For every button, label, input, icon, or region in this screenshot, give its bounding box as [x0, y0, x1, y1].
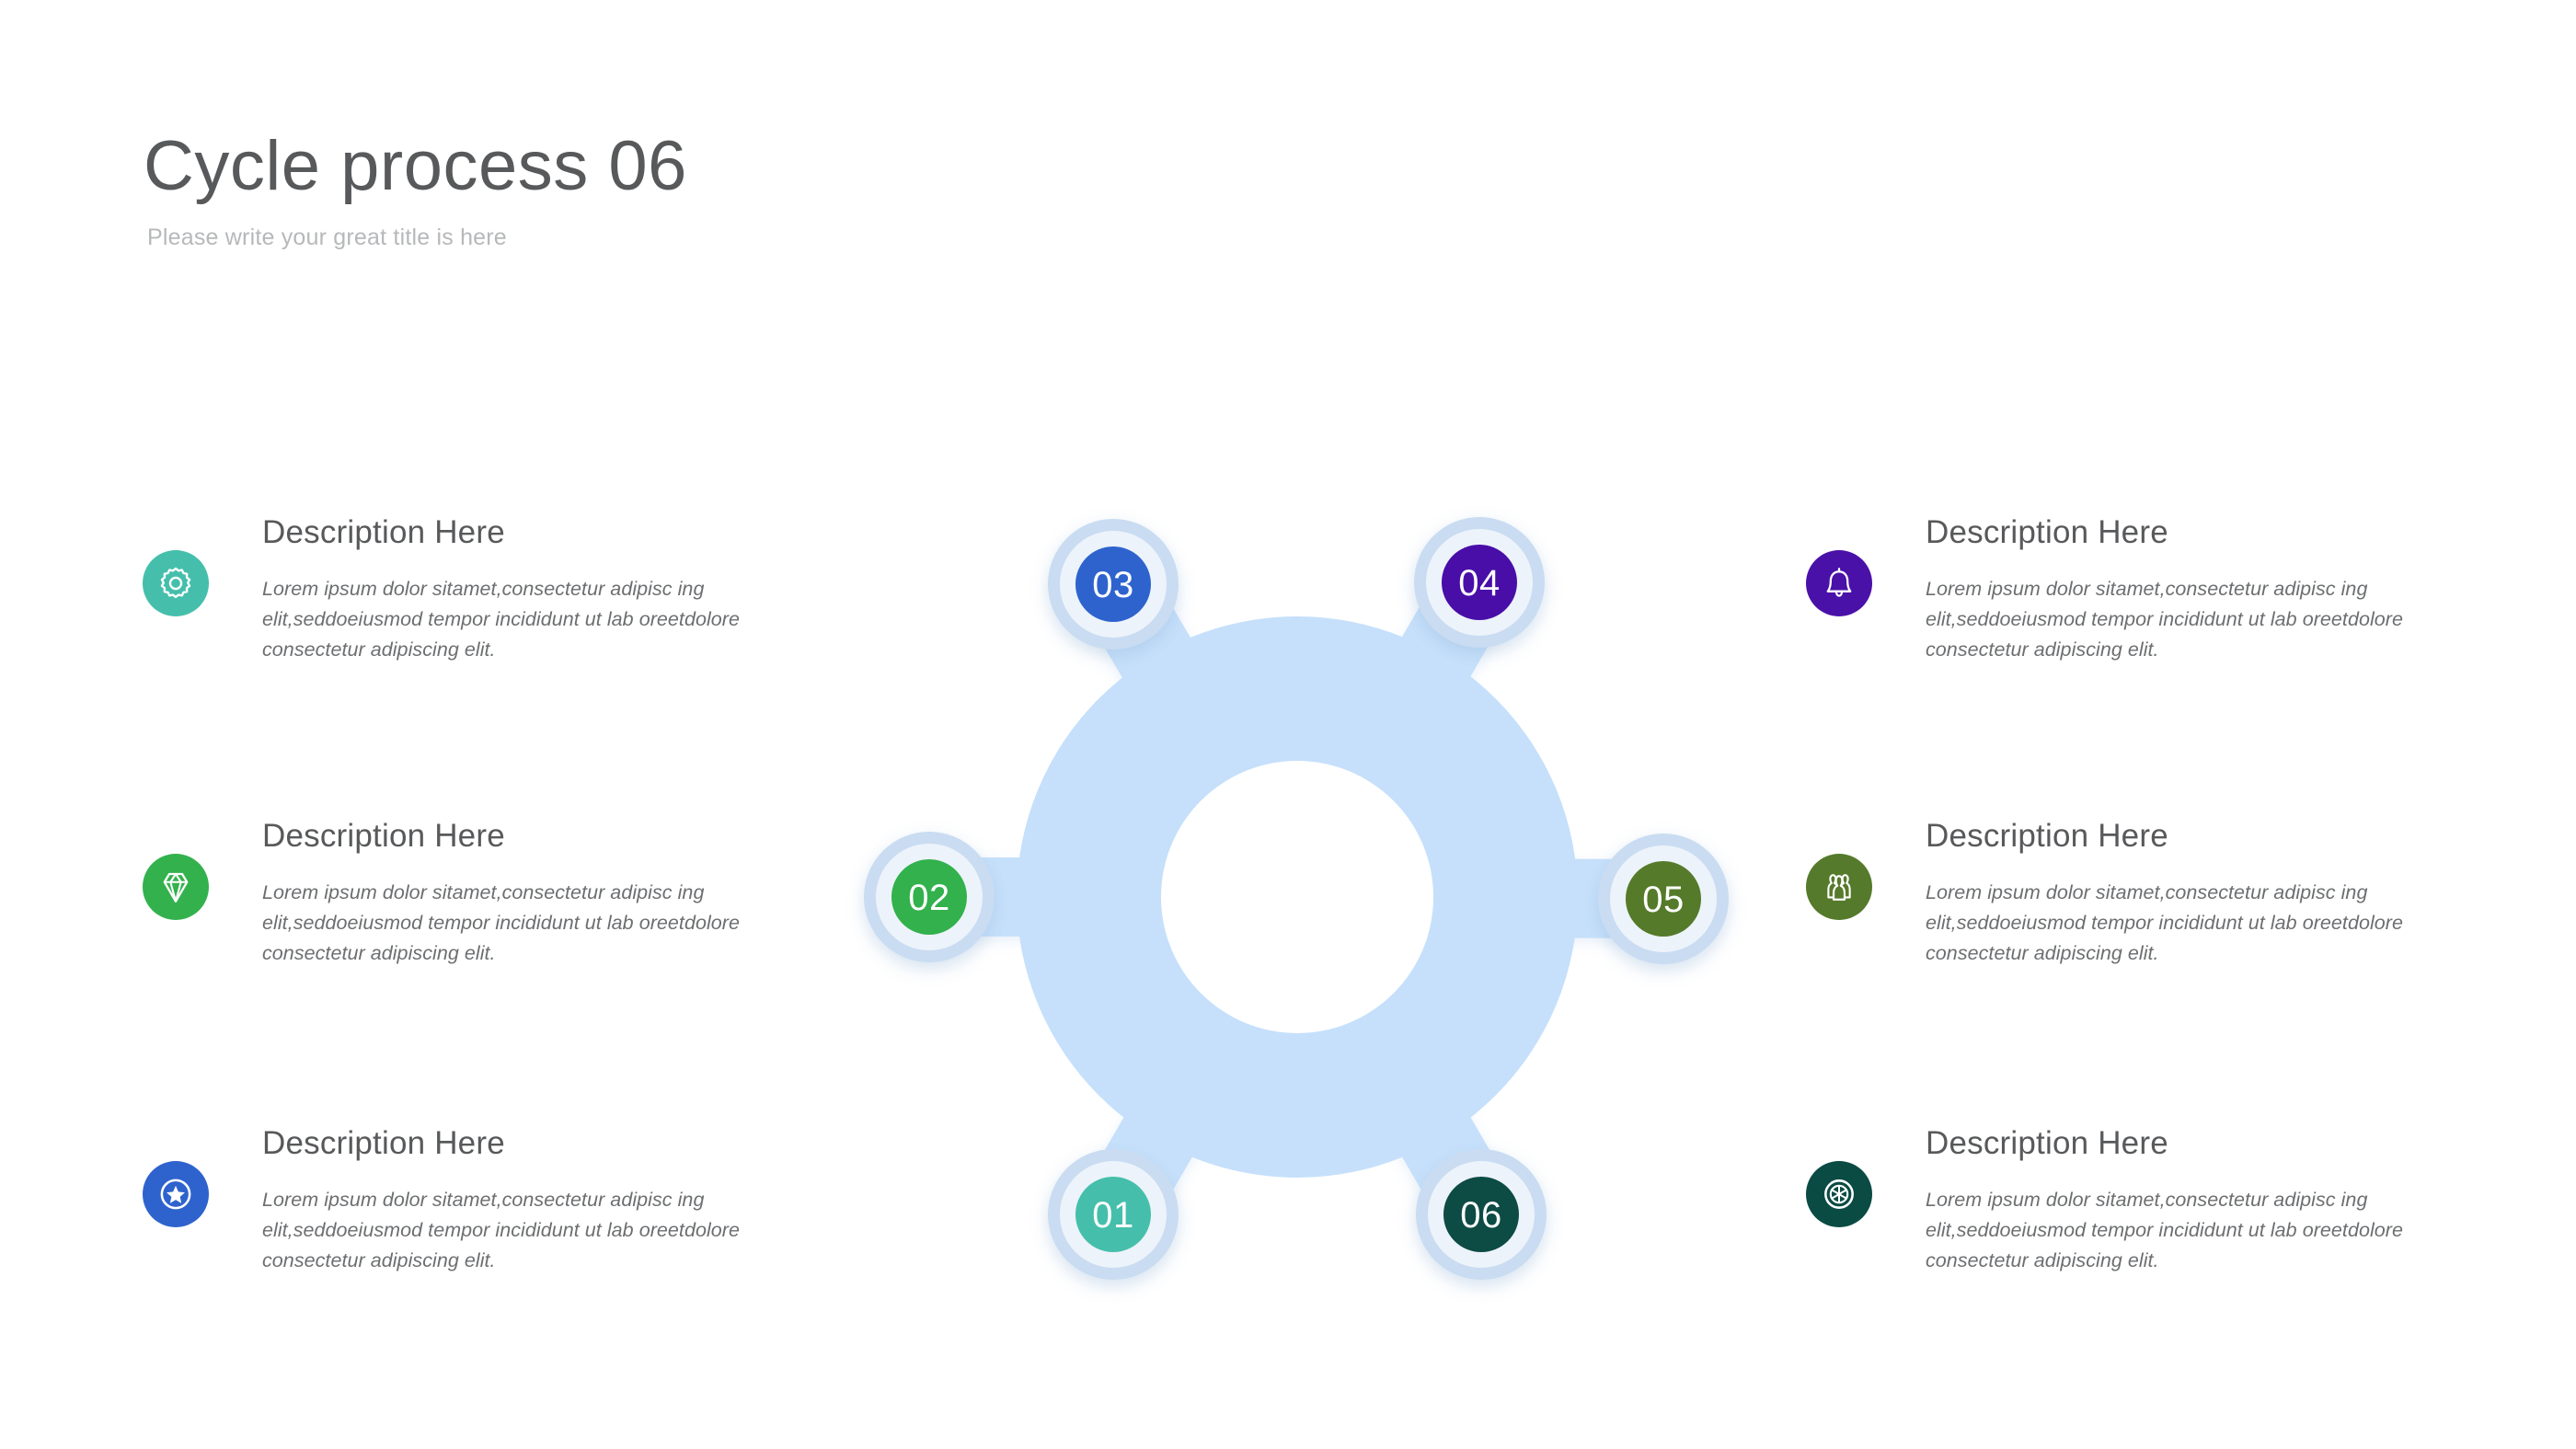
wheel-svg: 03 04 02 05 [810, 414, 1785, 1389]
description-block-06[interactable]: Description Here Lorem ipsum dolor sitam… [1806, 1126, 2468, 1276]
node-number-02: 02 [908, 878, 950, 918]
people-group-icon-badge[interactable] [1806, 854, 1872, 920]
bell-icon [1820, 564, 1858, 603]
description-block-04[interactable]: Description Here Lorem ipsum dolor sitam… [1806, 515, 2468, 665]
node-number-05: 05 [1642, 880, 1685, 920]
description-heading: Description Here [1926, 1126, 2427, 1162]
description-block-05[interactable]: Description Here Lorem ipsum dolor sitam… [1806, 819, 2468, 969]
header: Cycle process 06 Please write your great… [144, 129, 1248, 251]
star-circle-icon-badge[interactable] [143, 1161, 209, 1227]
gear-icon [155, 563, 196, 604]
description-text-04: Description Here Lorem ipsum dolor sitam… [1926, 515, 2427, 665]
description-text-03: Description Here Lorem ipsum dolor sitam… [262, 1126, 764, 1276]
cycle-wheel-diagram: 03 04 02 05 [810, 414, 1785, 1389]
description-body: Lorem ipsum dolor sitamet,consectetur ad… [1926, 574, 2427, 666]
description-body: Lorem ipsum dolor sitamet,consectetur ad… [262, 878, 764, 970]
page-subtitle: Please write your great title is here [147, 224, 1248, 251]
people-group-icon [1819, 867, 1859, 907]
description-text-05: Description Here Lorem ipsum dolor sitam… [1926, 819, 2427, 969]
gear-icon-badge[interactable] [143, 550, 209, 616]
wheel-icon-badge[interactable] [1806, 1161, 1872, 1227]
bell-icon-badge[interactable] [1806, 550, 1872, 616]
wheel-node-06[interactable]: 06 [1416, 1149, 1547, 1280]
wheel-node-02[interactable]: 02 [864, 832, 995, 962]
description-heading: Description Here [262, 819, 764, 855]
wheel-node-01[interactable]: 01 [1048, 1149, 1179, 1280]
wheel-node-03[interactable]: 03 [1048, 519, 1179, 650]
description-body: Lorem ipsum dolor sitamet,consectetur ad… [262, 1185, 764, 1277]
wheel-node-05[interactable]: 05 [1598, 834, 1729, 964]
description-heading: Description Here [262, 515, 764, 551]
description-text-02: Description Here Lorem ipsum dolor sitam… [262, 819, 764, 969]
node-number-04: 04 [1458, 563, 1501, 604]
wheel-hub [1017, 616, 1578, 1178]
description-heading: Description Here [1926, 819, 2427, 855]
star-circle-icon [155, 1174, 196, 1214]
description-block-02[interactable]: Description Here Lorem ipsum dolor sitam… [143, 819, 805, 969]
diamond-icon-badge[interactable] [143, 854, 209, 920]
wheel-node-04[interactable]: 04 [1414, 517, 1545, 648]
description-text-01: Description Here Lorem ipsum dolor sitam… [262, 515, 764, 665]
node-number-03: 03 [1092, 565, 1134, 605]
node-number-01: 01 [1092, 1195, 1134, 1236]
description-text-06: Description Here Lorem ipsum dolor sitam… [1926, 1126, 2427, 1276]
description-block-03[interactable]: Description Here Lorem ipsum dolor sitam… [143, 1126, 805, 1276]
description-block-01[interactable]: Description Here Lorem ipsum dolor sitam… [143, 515, 805, 665]
page-title: Cycle process 06 [144, 129, 1248, 204]
description-body: Lorem ipsum dolor sitamet,consectetur ad… [1926, 878, 2427, 970]
description-heading: Description Here [262, 1126, 764, 1162]
diamond-icon [156, 868, 195, 906]
wheel-icon [1819, 1174, 1859, 1214]
description-body: Lorem ipsum dolor sitamet,consectetur ad… [262, 574, 764, 666]
description-heading: Description Here [1926, 515, 2427, 551]
node-number-06: 06 [1460, 1195, 1502, 1236]
hub-inner-hole [1161, 761, 1433, 1033]
description-body: Lorem ipsum dolor sitamet,consectetur ad… [1926, 1185, 2427, 1277]
